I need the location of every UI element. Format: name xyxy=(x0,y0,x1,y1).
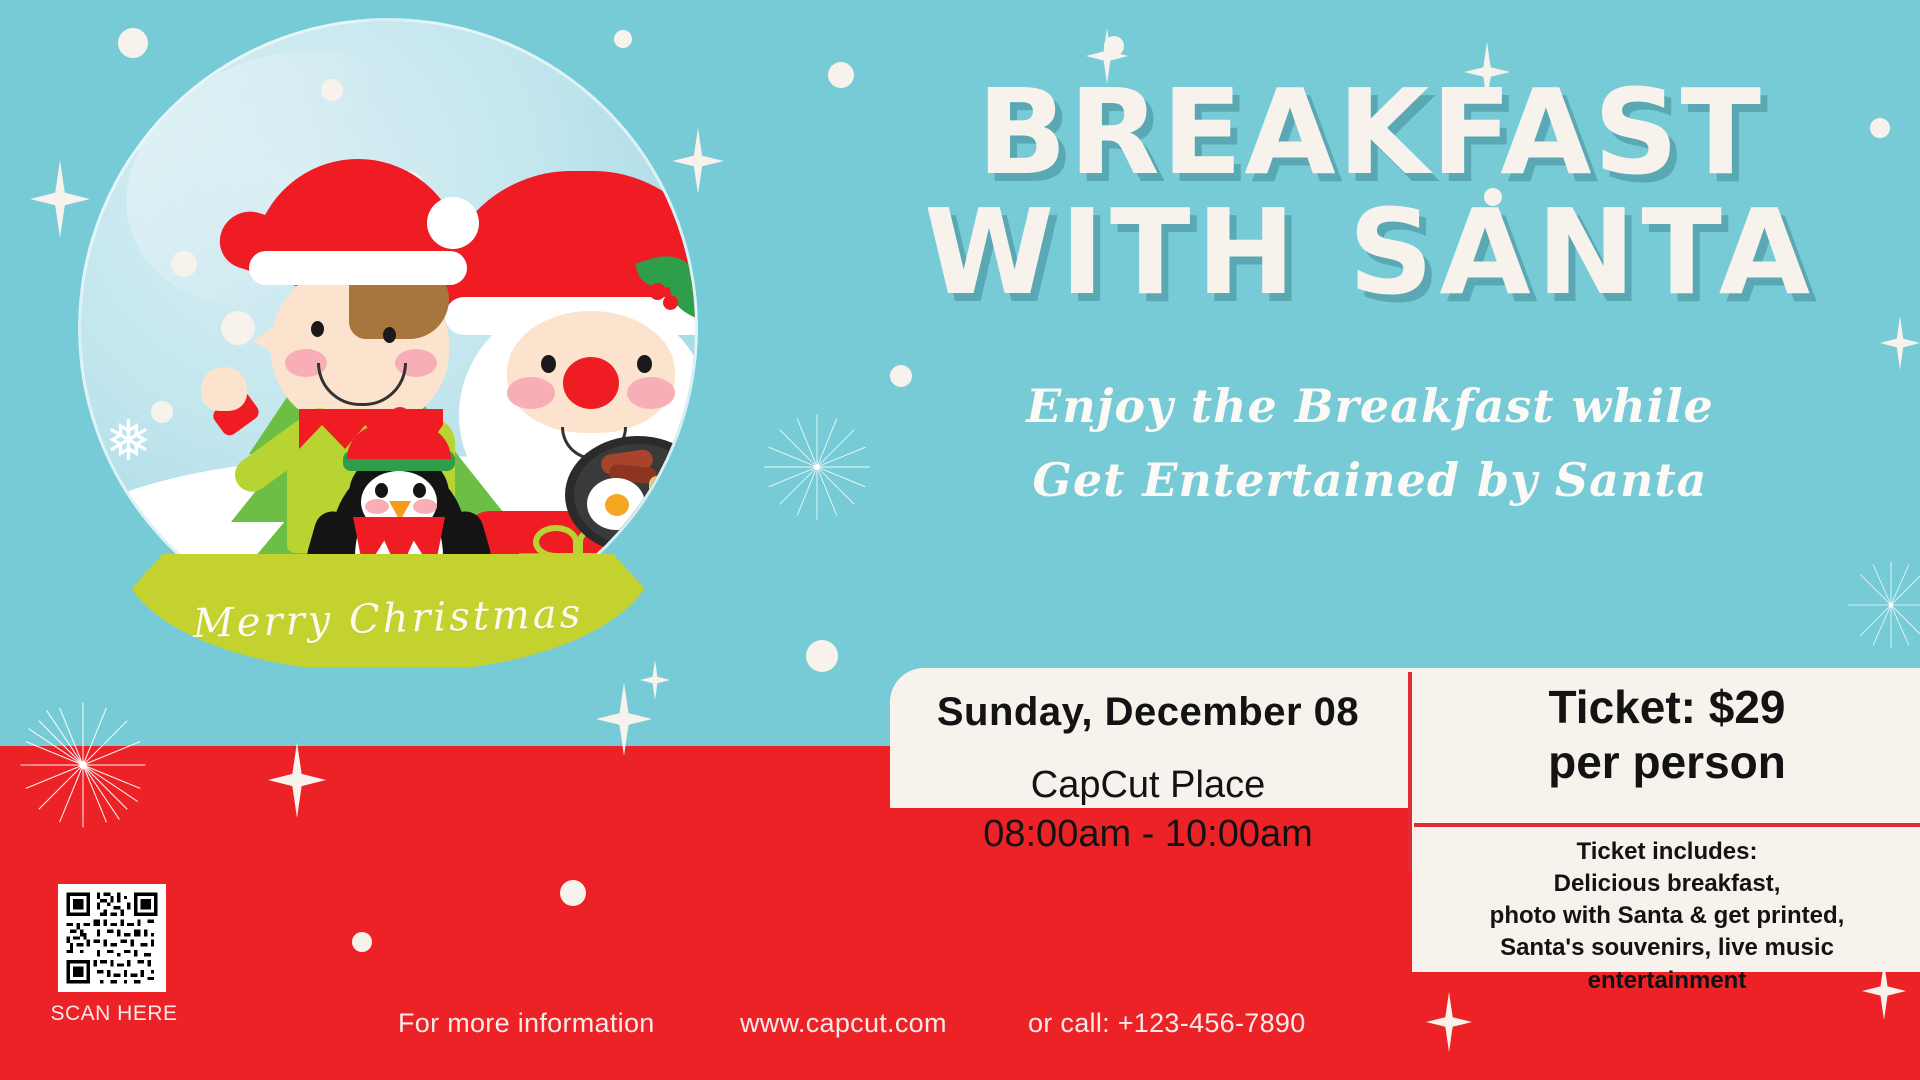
poster-canvas: ❅ ❅ ❅ ❅ xyxy=(0,0,1920,1080)
event-details: Sunday, December 08 CapCut Place 08:00am… xyxy=(890,690,1406,858)
ticket-includes-item: photo with Santa & get printed, xyxy=(1414,900,1920,932)
ticket-includes-title: Ticket includes: xyxy=(1414,836,1920,868)
subtitle-line-1: Enjoy the Breakfast while xyxy=(860,370,1880,444)
scan-here-label: SCAN HERE xyxy=(36,1002,192,1026)
penguin-eye xyxy=(375,483,388,498)
poster-title: BREAKFAST WITH SANTA xyxy=(860,72,1880,313)
title-line-1: BREAKFAST xyxy=(977,63,1763,201)
snow-globe-illustration: ❅ xyxy=(70,10,710,730)
footer-phone[interactable]: or call: +123-456-7890 xyxy=(1028,1008,1306,1039)
egg-yolk xyxy=(605,494,629,516)
elf-hand xyxy=(201,367,247,411)
ticket-price-line-1: Ticket: $29 xyxy=(1414,680,1920,735)
elf-ear xyxy=(253,317,287,361)
elf-eye xyxy=(383,327,396,343)
santa-eye xyxy=(637,355,652,373)
elf-hat-pom xyxy=(427,197,479,249)
title-line-2: WITH SANTA xyxy=(860,192,1880,312)
penguin-hat-pom xyxy=(389,407,411,429)
decor-starburst xyxy=(762,412,872,522)
footer-more-info: For more information xyxy=(398,1008,655,1039)
card-vertical-divider xyxy=(1408,672,1412,872)
event-venue: CapCut Place xyxy=(890,761,1406,810)
decor-dot xyxy=(560,880,586,906)
globe-snow-dot xyxy=(151,401,173,423)
snowflake-icon: ❅ xyxy=(105,413,152,469)
globe-snow-dot xyxy=(171,251,197,277)
elf-hat-band xyxy=(249,251,467,285)
event-venue-time: CapCut Place 08:00am - 10:00am xyxy=(890,761,1406,858)
santa-eye xyxy=(541,355,556,373)
ticket-price-line-2: per person xyxy=(1414,735,1920,790)
ticket-price-block: Ticket: $29 per person xyxy=(1414,680,1920,790)
subtitle-line-2: Get Entertained by Santa xyxy=(860,444,1880,518)
globe-snow-dot xyxy=(321,79,343,101)
poster-subtitle: Enjoy the Breakfast while Get Entertaine… xyxy=(860,370,1880,517)
breakfast-pan xyxy=(565,436,698,558)
ticket-includes-item: Santa's souvenirs, live music xyxy=(1414,932,1920,964)
holly-berry-icon xyxy=(663,295,678,310)
event-time: 08:00am - 10:00am xyxy=(890,810,1406,859)
decor-starburst xyxy=(1846,560,1920,650)
ticket-includes-item: Delicious breakfast, xyxy=(1414,868,1920,900)
decor-dot xyxy=(806,640,838,672)
qr-code[interactable] xyxy=(58,884,166,992)
elf-eye xyxy=(311,321,324,337)
santa-cheek xyxy=(627,377,675,409)
penguin-hat xyxy=(347,425,451,459)
ticket-includes-item: entertainment xyxy=(1414,965,1920,997)
decor-dot xyxy=(828,62,854,88)
toast-icon xyxy=(649,476,695,528)
ticket-includes-block: Ticket includes: Delicious breakfast, ph… xyxy=(1414,836,1920,997)
event-date: Sunday, December 08 xyxy=(890,690,1406,735)
globe-sphere: ❅ xyxy=(78,18,698,638)
footer-website[interactable]: www.capcut.com xyxy=(740,1008,947,1039)
card-horizontal-divider xyxy=(1414,823,1920,827)
penguin-cheek xyxy=(365,499,389,514)
santa-nose xyxy=(563,357,619,409)
penguin-eye xyxy=(413,483,426,498)
decor-dot xyxy=(352,932,372,952)
penguin-cheek xyxy=(413,499,437,514)
